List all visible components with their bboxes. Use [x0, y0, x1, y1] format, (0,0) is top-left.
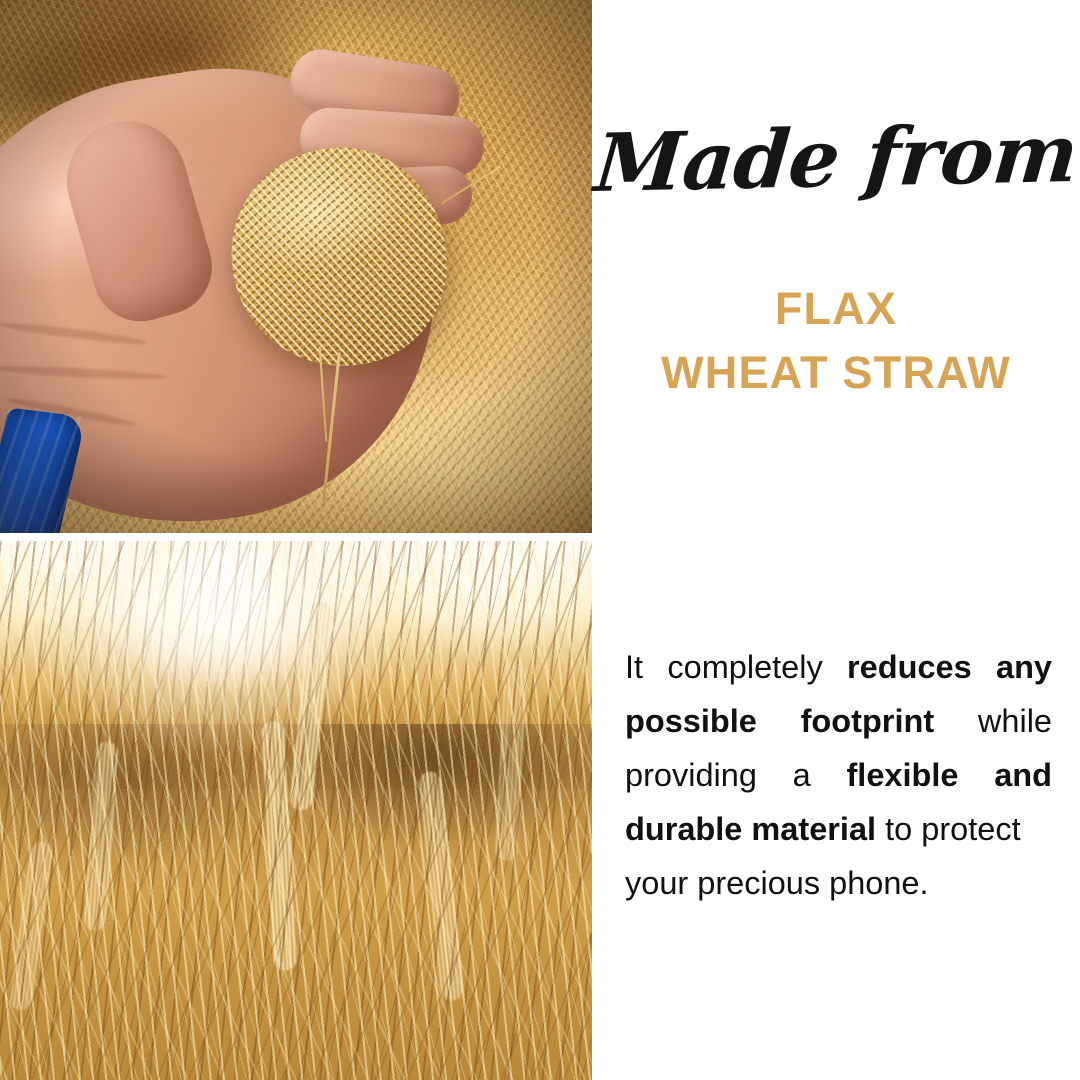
body-seg-5: to protect	[876, 811, 1021, 847]
material-sub-heading: FLAX WHEAT STRAW	[592, 277, 1080, 405]
script-heading: Made from	[588, 113, 1080, 205]
photo-hand-holding-chaff	[0, 0, 592, 533]
photo-golden-grass-field	[0, 541, 592, 1080]
body-seg-1: It completely	[625, 649, 847, 685]
text-panel: Made from FLAX WHEAT STRAW It completely…	[592, 0, 1080, 1080]
material-line-flax: FLAX	[592, 277, 1080, 341]
photo-column	[0, 0, 592, 1080]
body-seg-6: your precious phone.	[625, 857, 1052, 911]
grass-stalks-layer-2	[0, 541, 592, 1080]
poster-canvas: Made from FLAX WHEAT STRAW It completely…	[0, 0, 1080, 1080]
grain-pile	[221, 137, 457, 376]
material-line-wheat-straw: WHEAT STRAW	[592, 341, 1080, 405]
body-copy: It completely reduces any possible footp…	[625, 641, 1052, 911]
